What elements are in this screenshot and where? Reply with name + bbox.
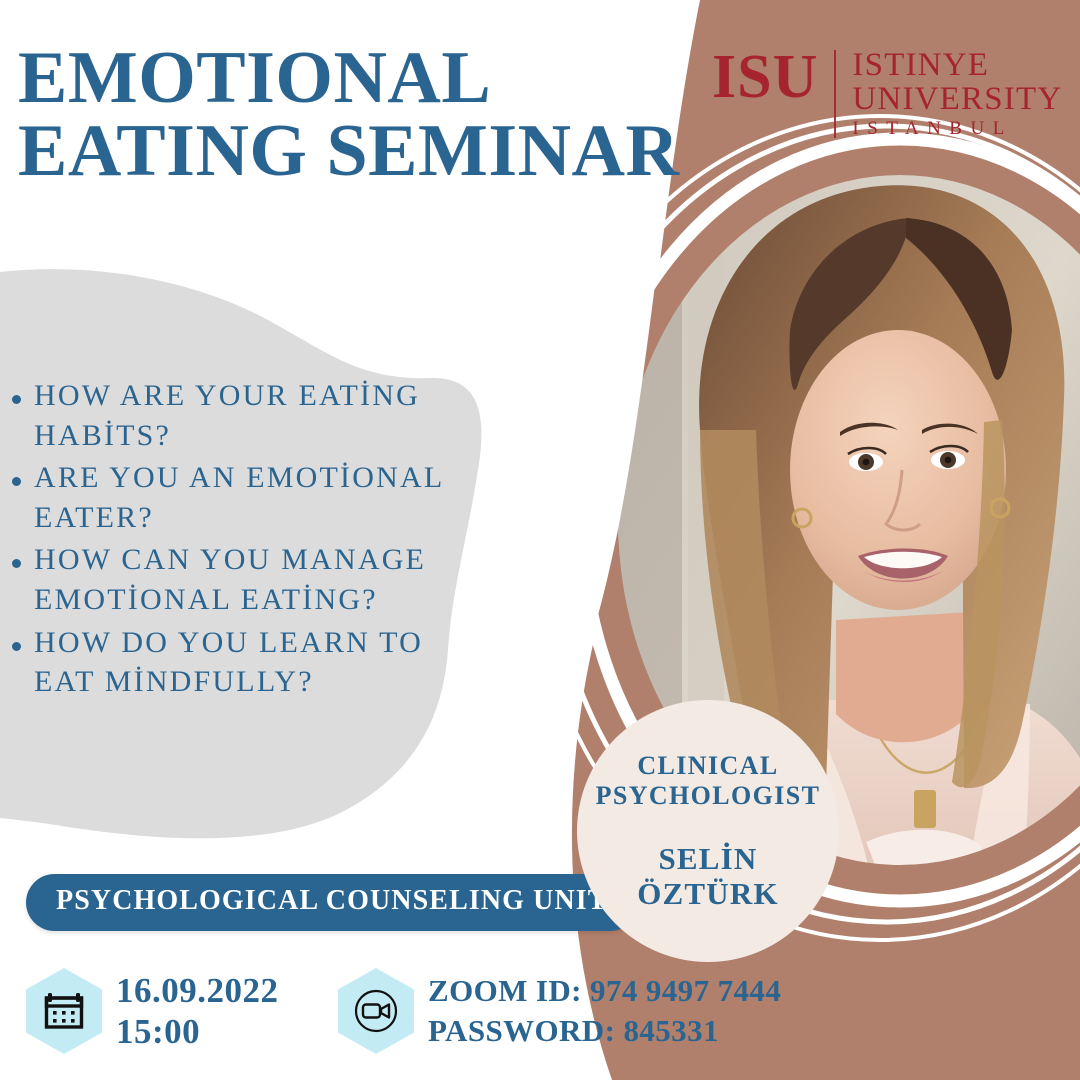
speaker-name-line-2: ÖZTÜRK [637, 876, 779, 911]
zoom-info-group: ZOOM ID: 974 9497 7444 PASSWORD: 845331 [338, 968, 781, 1054]
zoom-password: PASSWORD: 845331 [428, 1011, 781, 1051]
logo-name-line-1: ISTINYE [852, 48, 1062, 82]
seminar-poster: EMOTIONAL EATING SEMINAR ISU ISTINYE UNI… [0, 0, 1080, 1080]
zoom-id: ZOOM ID: 974 9497 7444 [428, 971, 781, 1011]
speaker-role-line-2: PSYCHOLOGIST [596, 781, 821, 811]
question-text: ARE YOU AN EMOTİONAL EATER? [34, 458, 474, 537]
speaker-info-circle: CLINICAL PSYCHOLOGIST SELİN ÖZTÜRK [577, 700, 839, 962]
title-line-1: EMOTIONAL [18, 42, 658, 115]
question-text: HOW DO YOU LEARN TO EAT MİNDFULLY? [34, 623, 474, 702]
list-item: HOW CAN YOU MANAGE EMOTİONAL EATİNG? [4, 540, 474, 619]
bullet-dot-icon [12, 395, 21, 404]
speaker-name: SELİN ÖZTÜRK [637, 841, 779, 912]
question-list: HOW ARE YOUR EATİNG HABİTS? ARE YOU AN E… [4, 376, 474, 705]
date-time-text: 16.09.2022 15:00 [116, 970, 279, 1053]
seminar-time: 15:00 [116, 1011, 279, 1052]
speaker-role-line-1: CLINICAL [596, 751, 821, 781]
list-item: HOW DO YOU LEARN TO EAT MİNDFULLY? [4, 623, 474, 702]
logo-city: ISTANBUL [852, 116, 1062, 139]
footer-info: 16.09.2022 15:00 ZOOM ID: 974 9497 7444 … [0, 962, 1080, 1080]
list-item: ARE YOU AN EMOTİONAL EATER? [4, 458, 474, 537]
title-line-2: EATING SEMINAR [18, 115, 658, 188]
status-badge: PSYCHOLOGICAL COUNSELING UNIT [26, 874, 638, 931]
zoom-credentials-text: ZOOM ID: 974 9497 7444 PASSWORD: 845331 [428, 971, 781, 1052]
logo-name-line-2: UNIVERSITY [852, 82, 1062, 116]
calendar-icon [26, 968, 102, 1054]
unit-badge-label: PSYCHOLOGICAL COUNSELING UNIT [56, 886, 608, 917]
bullet-dot-icon [12, 559, 21, 568]
logo-mark-isu: ISU [712, 46, 834, 108]
question-text: HOW CAN YOU MANAGE EMOTİONAL EATİNG? [34, 540, 474, 619]
question-text: HOW ARE YOUR EATİNG HABİTS? [34, 376, 474, 455]
seminar-date: 16.09.2022 [116, 970, 279, 1011]
university-logo: ISU ISTINYE UNIVERSITY ISTANBUL [712, 46, 1062, 139]
bullet-dot-icon [12, 642, 21, 651]
speaker-role: CLINICAL PSYCHOLOGIST [596, 751, 821, 811]
logo-divider [834, 50, 836, 138]
date-time-group: 16.09.2022 15:00 [26, 968, 279, 1054]
list-item: HOW ARE YOUR EATİNG HABİTS? [4, 376, 474, 455]
bullet-dot-icon [12, 477, 21, 486]
speaker-name-line-1: SELİN [637, 841, 779, 876]
logo-wordmark: ISTINYE UNIVERSITY ISTANBUL [852, 46, 1062, 139]
video-camera-icon [338, 968, 414, 1054]
page-title: EMOTIONAL EATING SEMINAR [18, 42, 658, 189]
